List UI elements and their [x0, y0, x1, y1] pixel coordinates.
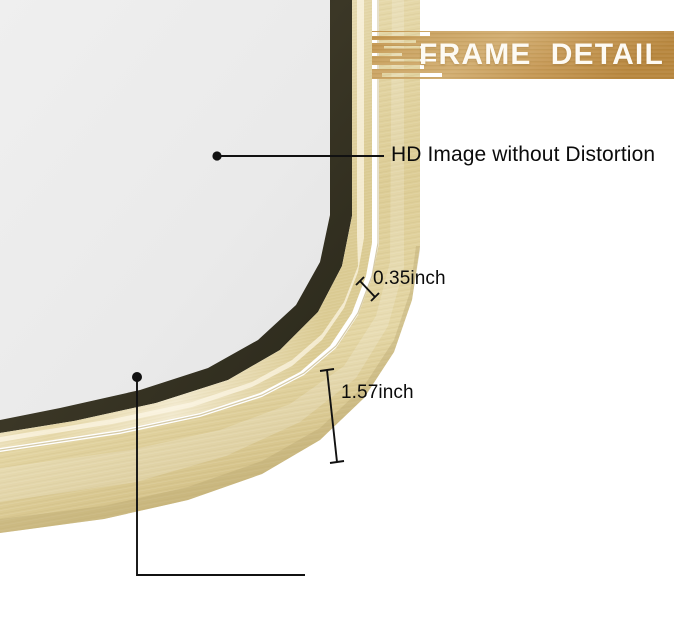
- callout-hd-image: HD Image without Distortion: [391, 143, 655, 167]
- frame-detail-product-image: FRAME DETAIL HD Image without Distortion…: [0, 0, 679, 618]
- callout-depth-value: 1.57inch: [341, 382, 414, 404]
- callout-thickness-value: 0.35inch: [373, 268, 446, 290]
- product-photo: [0, 0, 679, 618]
- callout-brushed-metal: Brushed Metal Frame economical & sturdy: [317, 562, 521, 618]
- frame-detail-banner: FRAME DETAIL: [372, 31, 674, 79]
- banner-title: FRAME DETAIL: [372, 31, 674, 79]
